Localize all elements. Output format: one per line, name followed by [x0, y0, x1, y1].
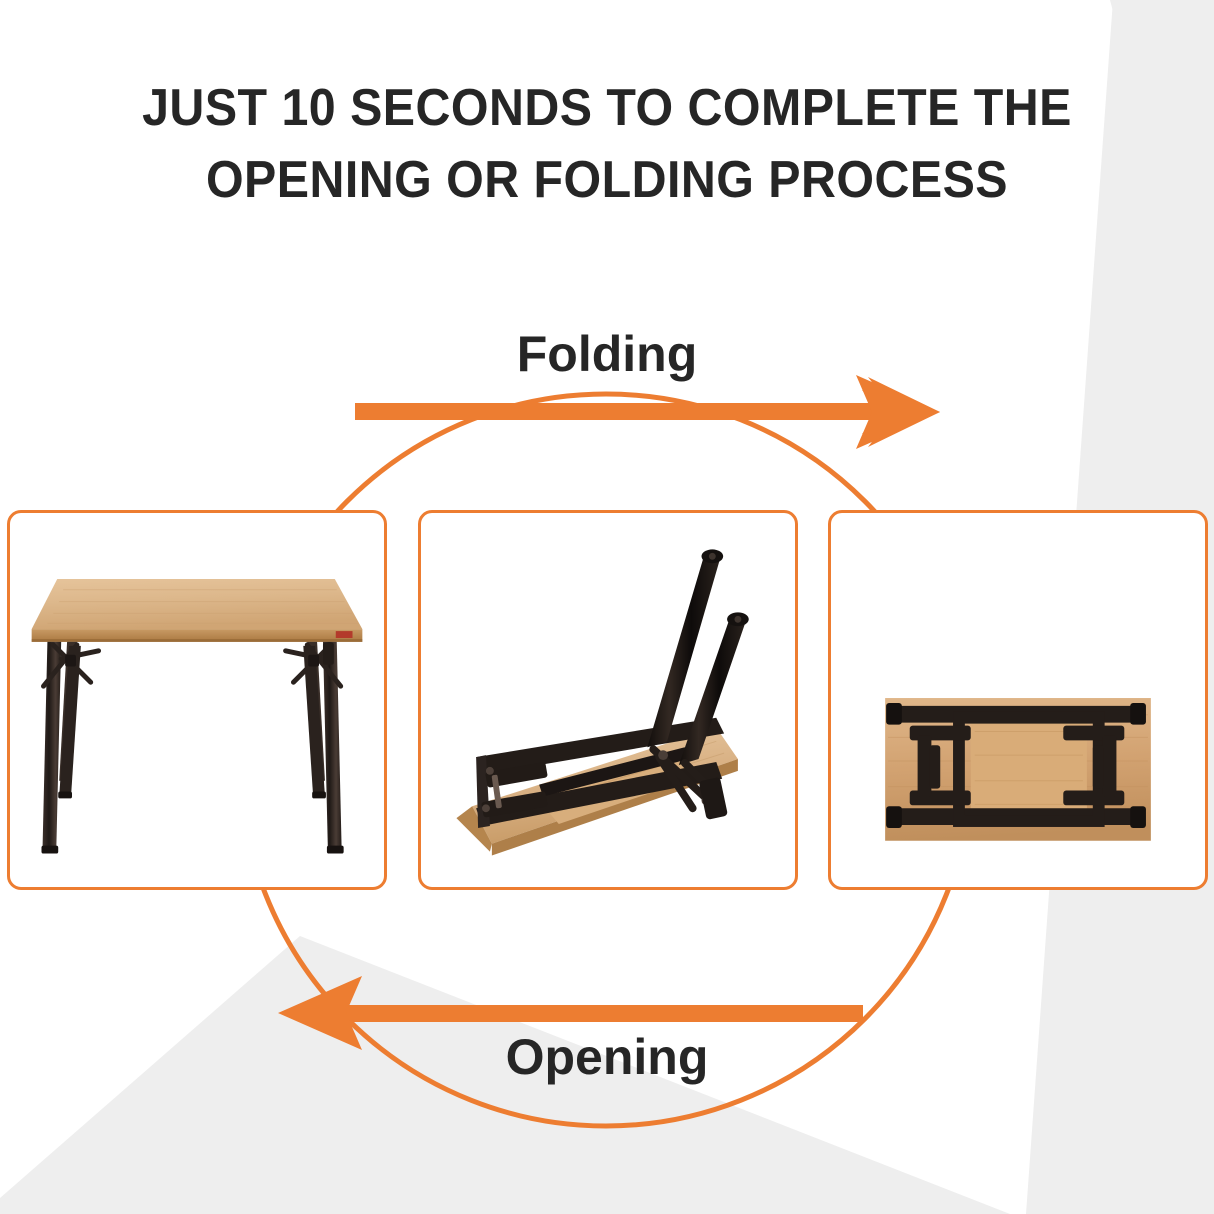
inner-leg-group [58, 646, 326, 799]
card-assembled-table[interactable] [7, 510, 387, 890]
card-table-mid-fold[interactable] [418, 510, 798, 890]
title-line-2: OPENING OR FOLDING PROCESS [42, 144, 1171, 216]
assembled-table-illustration [10, 513, 384, 887]
folded-leg-cap-tl [886, 703, 902, 725]
card-table-folded-flat[interactable] [828, 510, 1208, 890]
opening-arrow-shaft [338, 1005, 863, 1022]
folded-leg-cap-tr [1130, 703, 1146, 725]
right-link-vert [1103, 735, 1117, 796]
folded-leg-cap-br [1130, 806, 1146, 828]
infographic-canvas: JUST 10 SECONDS TO COMPLETE THE OPENING … [0, 0, 1214, 1214]
hinge-right [308, 655, 319, 667]
folding-label: Folding [0, 325, 1214, 383]
pivot-left-lower [482, 804, 490, 812]
leg-cap-far-dot [709, 553, 716, 560]
front-leg-group [41, 642, 343, 854]
folding-arrow-shaft [355, 403, 880, 420]
raised-leg-group [647, 549, 748, 765]
mid-fold-illustration [421, 513, 795, 887]
left-link-vert [918, 735, 932, 796]
opening-label: Opening [0, 1028, 1214, 1086]
right-link-diag [1093, 745, 1104, 788]
title-line-1: JUST 10 SECONDS TO COMPLETE THE [42, 72, 1171, 144]
bracket-right [323, 643, 334, 665]
folded-flat-illustration [831, 513, 1205, 887]
folding-brace-group [43, 645, 340, 686]
inner-leg-left-foot [58, 792, 72, 799]
left-link-diag [929, 745, 940, 788]
strut-pin-2 [658, 750, 668, 760]
inner-leg-right-foot [312, 792, 326, 799]
tabletop-edge-shadow [32, 639, 363, 642]
rear-leg-group [59, 642, 325, 781]
brand-sticker [336, 631, 353, 638]
tabletop-surface [32, 579, 363, 629]
leg-cap-near-dot [734, 616, 741, 623]
front-leg-left-foot [41, 846, 58, 854]
hinge-bracket-right [699, 777, 728, 820]
folded-leg-cap-bl [886, 806, 902, 828]
front-leg-right-foot [327, 846, 344, 854]
hinge-left [65, 655, 76, 667]
page-title: JUST 10 SECONDS TO COMPLETE THE OPENING … [0, 72, 1214, 216]
pivot-left-upper [486, 767, 494, 775]
